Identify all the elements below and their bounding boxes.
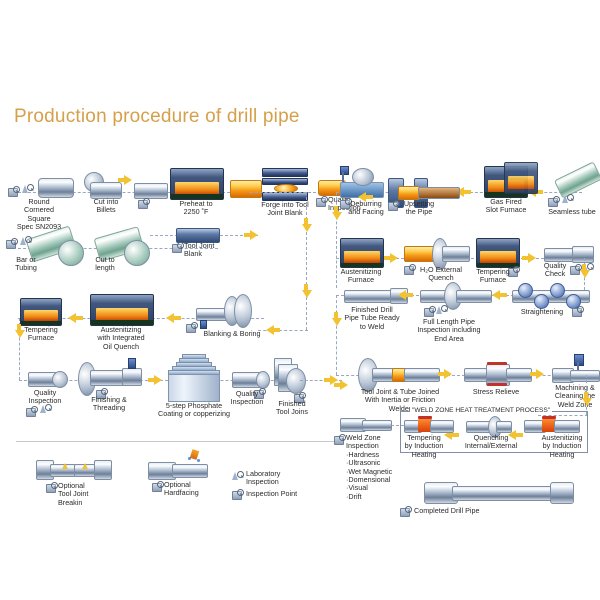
label-slot-furnace: Gas Fired Slot Furnace (478, 198, 534, 215)
laboratory-inspection-icon (22, 184, 34, 194)
label-full-length-inspection: Full Length Pipe Inspection including En… (408, 318, 490, 343)
legend-label-1: Optional Hardfacing (164, 481, 218, 498)
label-quality-check: Quality Check (538, 262, 572, 279)
label-cut-to-length: Cut to length (84, 256, 126, 273)
label-stress-relieve: Stress Relieve (462, 388, 530, 396)
arrow-tjblank-right (250, 230, 258, 240)
label-austenitizing-furnace-2: Austenitizing Furnace (330, 268, 392, 285)
arrow-down-2 (302, 290, 312, 298)
laboratory-inspection-icon (40, 404, 52, 414)
label-quality-inspection-3: Quality Inspection (224, 390, 270, 407)
arrow-right-stress (444, 369, 452, 379)
label-blanking-boring: Blanking & Boring (196, 330, 268, 338)
label-finishing-threading: Finishing & Threading (78, 396, 140, 413)
arrow-down-right-1 (332, 212, 342, 220)
label-finished-tool-joins: Finished Tool Joins (266, 400, 318, 417)
label-phosphate: 5-step Phosphate Coating or copperizing (156, 402, 232, 419)
arrow-right-qcheck (528, 253, 536, 263)
label-ready-to-weld: Finished Drill Pipe Tube Ready to Weld (336, 306, 408, 331)
label-forge: Forge into Tool Joint Blank (258, 201, 312, 218)
arrow-right-austen2 (390, 253, 398, 263)
legend-label-3: Inspection Point (246, 490, 318, 498)
section-divider (16, 441, 338, 442)
label-deburring: Deburring and Facing (338, 200, 394, 217)
laboratory-inspection-icon (562, 194, 574, 204)
legend-label-2: Laboratory Inspection (246, 470, 308, 487)
inspection-point-icon (232, 489, 243, 498)
label-upsetting: Upsetting the Pipe (394, 200, 444, 217)
label-rcs: Round Cornered Square Spec SN2093 (8, 198, 70, 232)
label-completed-drill-pipe: Completed Drill Pipe (414, 507, 524, 515)
diagram-canvas: Production procedure of drill pipe Round… (0, 0, 600, 600)
label-tempering-furnace-2: Tempering Furnace (466, 268, 520, 285)
inspection-point-icon (572, 306, 583, 315)
tool-bit-icon (128, 358, 136, 369)
arrow-thread-to-phosphate (154, 375, 162, 385)
inspection-point-icon (26, 406, 37, 415)
inspection-point-icon (424, 306, 435, 315)
label-seamless-tube: Seamless tube (544, 208, 600, 216)
laboratory-inspection-icon (232, 471, 244, 481)
inspection-point-icon (6, 238, 17, 247)
arrow-down-right-4 (582, 398, 592, 406)
label-machining-weld-zone: Machining & Cleaning the Weld Zone (548, 384, 600, 409)
tool-bit-icon (574, 354, 584, 366)
label-austenitizing-oil-quench: Austenitizing with Integrated Oil Quench (82, 326, 160, 351)
laboratory-inspection-icon (436, 305, 448, 315)
arrow-down-3 (15, 330, 25, 338)
inspection-point-icon (334, 434, 345, 443)
arrow-right-machining (536, 369, 544, 379)
label-h2o-quench: H₂O External Quench (410, 266, 472, 283)
connector-qi-down (306, 192, 307, 330)
label-austenitizing-induction: Austenitizing by Induction Heating (534, 434, 590, 459)
label-bar-tubing: Bar or Tubing (4, 256, 48, 273)
weld-zone-group-label: "WELD ZONE HEAT TREATMENT PROCESS" (410, 407, 552, 414)
arrow-down-1 (302, 224, 312, 232)
arrow-down-right-3 (332, 318, 342, 326)
legend-label-0: Optional Tool Joint Breakin (58, 482, 110, 507)
inspection-point-icon (8, 186, 19, 195)
label-straightening: Straightening (514, 308, 570, 316)
inspection-point-icon (46, 482, 57, 491)
inspection-point-icon (548, 196, 559, 205)
inspection-point-icon (152, 481, 163, 490)
label-billets: Cut into Billets (84, 198, 128, 215)
inspection-point-icon (400, 506, 411, 515)
label-tool-joint-blank: Tool Joint Blank (172, 242, 232, 259)
page-title: Production procedure of drill pipe (14, 106, 300, 128)
arrow-down-right-2 (580, 270, 590, 278)
tool-bit-icon (200, 320, 207, 329)
arrow-billets-to-preheat (124, 175, 132, 185)
label-weld-zone-inspection: Weld Zone Inspection ·Hardness ·Ultrason… (346, 434, 410, 501)
laboratory-inspection-icon (20, 236, 32, 246)
label-quenching: Quenching Internal/External (460, 434, 522, 451)
label-preheat: Preheat to 2250 ˚F (168, 200, 224, 217)
inspection-point-icon (138, 198, 149, 207)
arrow-right-joined (340, 380, 348, 390)
